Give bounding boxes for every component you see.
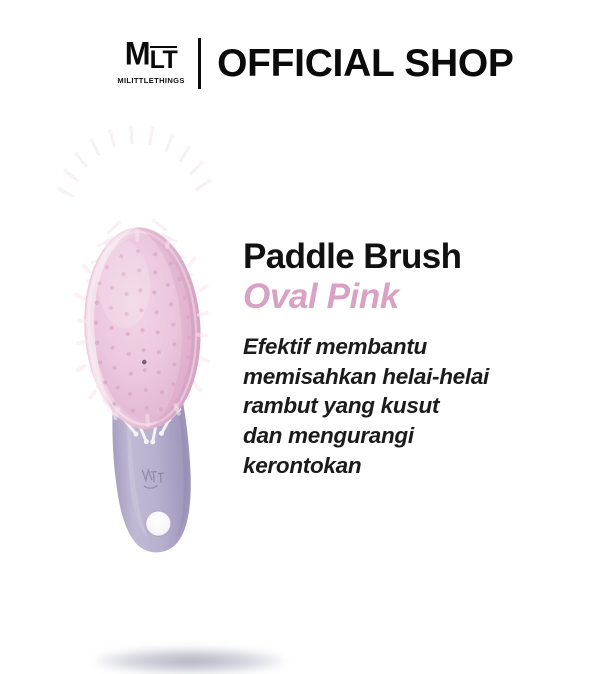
logo-wordmark: MLT <box>125 39 178 74</box>
logo-subtitle: MILITTLETHINGS <box>117 76 184 85</box>
product-variant: Oval Pink <box>243 277 573 316</box>
logo-letters-lt: LT <box>150 46 178 74</box>
description-line: memisahkan helai-helai <box>243 362 573 392</box>
header-banner: MLT MILITTLETHINGS OFFICIAL SHOP <box>118 34 514 92</box>
official-shop-label: OFFICIAL SHOP <box>217 44 514 83</box>
description-line: Efektif membantu <box>243 332 573 362</box>
description-line: dan mengurangi <box>243 421 573 451</box>
product-title: Paddle Brush <box>243 238 573 276</box>
product-image <box>40 118 260 568</box>
product-text-panel: Paddle Brush Oval Pink Efektif membantum… <box>243 238 573 480</box>
brand-logo: MLT MILITTLETHINGS <box>118 39 184 87</box>
product-shadow <box>95 648 285 674</box>
paddle-brush-illustration <box>19 112 264 574</box>
description-line: rambut yang kusut <box>243 391 573 421</box>
header-divider-icon <box>198 38 201 89</box>
description-line: kerontokan <box>243 451 573 481</box>
logo-letter-m: M <box>125 39 150 71</box>
product-description: Efektif membantumemisahkan helai-helaira… <box>243 332 573 480</box>
